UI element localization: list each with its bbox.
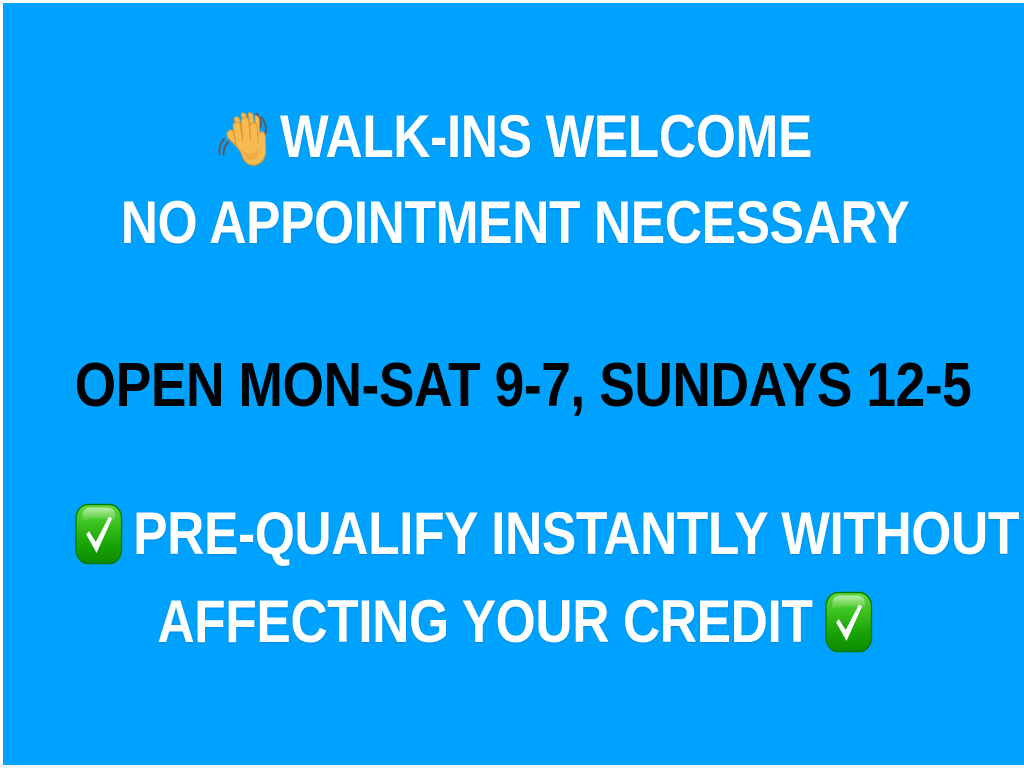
- open-hours-label: OPEN MON-SAT 9-7, SUNDAYS 12-5: [75, 351, 972, 420]
- walkins-welcome-line: WALK-INS WELCOME: [75, 107, 956, 169]
- open-hours-line: OPEN MON-SAT 9-7, SUNDAYS 12-5: [75, 355, 956, 417]
- no-appointment-line: NO APPOINTMENT NECESSARY: [75, 193, 956, 253]
- hours-text-block: OPEN MON-SAT 9-7, SUNDAYS 12-5: [3, 355, 1024, 417]
- waving-hand-icon: [218, 107, 271, 169]
- white-check-mark-icon: [824, 591, 872, 653]
- prequalify-label: PRE-QUALIFY INSTANTLY WITHOUT: [133, 500, 1019, 567]
- white-check-mark-icon: [75, 503, 123, 565]
- affecting-credit-line: AFFECTING YOUR CREDIT: [75, 591, 956, 653]
- promo-slide: WALK-INS WELCOME NO APPOINTMENT NECESSAR…: [0, 0, 1024, 768]
- prequalify-text-block: PRE-QUALIFY INSTANTLY WITHOUT AFFECTING …: [3, 503, 1024, 653]
- walkins-welcome-label: WALK-INS WELCOME: [280, 103, 812, 170]
- welcome-text-block: WALK-INS WELCOME NO APPOINTMENT NECESSAR…: [3, 107, 1024, 253]
- affecting-credit-label: AFFECTING YOUR CREDIT: [157, 588, 812, 655]
- no-appointment-label: NO APPOINTMENT NECESSARY: [121, 189, 910, 256]
- prequalify-line: PRE-QUALIFY INSTANTLY WITHOUT: [75, 503, 956, 565]
